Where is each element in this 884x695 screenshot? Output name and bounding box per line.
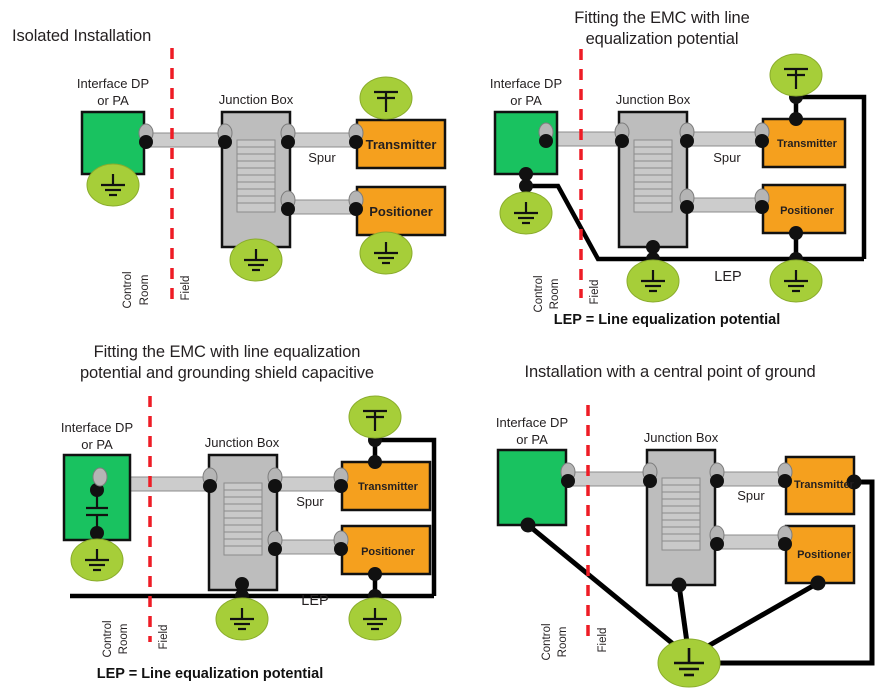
- junction-box-label: Junction Box: [616, 92, 691, 107]
- panel-title-4-line-1: Installation with a central point of gro…: [480, 362, 860, 383]
- wire-node: [672, 578, 687, 593]
- wire-node: [90, 526, 104, 540]
- positioner-label: Positioner: [369, 204, 433, 219]
- transmitter-clean-ground-icon: [770, 54, 822, 96]
- junction-box-label: Junction Box: [219, 92, 294, 107]
- shield-terminal-icon: [643, 463, 657, 488]
- interface-ground-icon: [71, 539, 123, 581]
- interface-label-line1: Interface DP: [496, 415, 568, 430]
- interface-label-line2: or PA: [81, 437, 113, 452]
- shield-terminal-icon: [203, 468, 217, 493]
- room-label: Room: [549, 279, 561, 310]
- positioner-label: Positioner: [797, 549, 852, 561]
- wire-node: [521, 518, 536, 533]
- diagram-root: Isolated Installation: [0, 0, 884, 692]
- field-label: Field: [597, 628, 609, 653]
- spur-label: Spur: [296, 494, 324, 509]
- panel-central-point-of-ground: Installation with a central point of gro…: [452, 350, 884, 692]
- shield-terminal-icon: [349, 124, 363, 149]
- shield-terminal-icon: [539, 123, 553, 148]
- schematic-1: Interface DP or PA Junction Box Spur Tra…: [0, 0, 452, 330]
- terminal-strip-icon: [224, 483, 262, 555]
- panel-footnote-2: LEP = Line equalization potential: [492, 312, 842, 328]
- wire-node: [519, 179, 533, 193]
- central-ground-icon: [658, 639, 720, 687]
- shield-terminal-icon: [561, 463, 575, 488]
- interface-label-line2: or PA: [97, 93, 129, 108]
- shield-terminal-icon: [710, 463, 724, 488]
- lep-label: LEP: [301, 593, 328, 609]
- positioner-label: Positioner: [780, 205, 835, 217]
- spur-cable-positioner: [684, 198, 766, 212]
- panel-isolated-installation: Isolated Installation: [0, 0, 452, 330]
- field-label: Field: [180, 276, 192, 301]
- junction-box-label: Junction Box: [644, 430, 719, 445]
- wire-node: [519, 167, 533, 181]
- field-label: Field: [158, 625, 170, 650]
- spur-label: Spur: [737, 488, 765, 503]
- wire-node: [811, 576, 826, 591]
- shield-terminal-icon: [281, 124, 295, 149]
- spur-cable-transmitter: [716, 472, 784, 486]
- positioner-ground-icon: [360, 232, 412, 274]
- shield-terminal-icon: [93, 468, 107, 486]
- shield-terminal-icon: [349, 191, 363, 216]
- wire-node: [235, 577, 249, 591]
- lep-label: LEP: [714, 269, 741, 285]
- panel-title-2: Fitting the EMC with line equalization p…: [512, 8, 812, 49]
- interface-label-line1: Interface DP: [61, 420, 133, 435]
- junction-box-ground-icon: [230, 239, 282, 281]
- interface-ground-icon: [87, 164, 139, 206]
- spur-cable-transmitter: [684, 132, 766, 146]
- panel-title-1-line-1: Isolated Installation: [12, 27, 151, 45]
- terminal-strip-icon: [237, 140, 275, 212]
- panel-title-3-line-2: potential and grounding shield capacitiv…: [22, 363, 432, 384]
- spur-label: Spur: [308, 150, 336, 165]
- shield-terminal-icon: [680, 123, 694, 148]
- transmitter-label: Transmitter: [366, 137, 437, 152]
- shield-terminal-icon: [755, 189, 769, 214]
- junction-box-ground-icon: [216, 598, 268, 640]
- interface-label-line1: Interface DP: [490, 76, 562, 91]
- panel-footnote-3: LEP = Line equalization potential: [30, 666, 390, 682]
- panel-title-2-line-1: Fitting the EMC with line: [512, 8, 812, 29]
- wire-node: [789, 112, 803, 126]
- shield-terminal-icon: [334, 468, 348, 493]
- junction-box-label: Junction Box: [205, 435, 280, 450]
- control-label: Control: [541, 623, 553, 660]
- panel-title-1: Isolated Installation: [12, 26, 302, 47]
- control-label: Control: [122, 271, 134, 308]
- wire-node: [368, 567, 382, 581]
- panel-title-3: Fitting the EMC with line equalization p…: [22, 342, 432, 383]
- shield-terminal-icon: [680, 189, 694, 214]
- interface-ground-icon: [500, 192, 552, 234]
- shield-terminal-icon: [778, 463, 792, 488]
- room-label: Room: [118, 624, 130, 655]
- transmitter-label: Transmitter: [777, 138, 838, 150]
- positioner-label: Positioner: [361, 546, 416, 558]
- shield-terminal-icon: [218, 124, 232, 149]
- room-label: Room: [139, 275, 151, 306]
- shield-terminal-icon: [139, 124, 153, 149]
- schematic-2: Interface DP or PA Junction Box Spur Tra…: [452, 55, 884, 355]
- control-label: Control: [102, 620, 114, 657]
- transmitter-clean-ground-icon: [360, 77, 412, 119]
- transmitter-clean-ground-icon: [349, 396, 401, 438]
- shield-terminal-icon: [755, 123, 769, 148]
- shield-terminal-icon: [268, 531, 282, 556]
- interface-label-line2: or PA: [516, 432, 548, 447]
- shield-terminal-icon: [334, 531, 348, 556]
- terminal-strip-icon: [634, 140, 672, 212]
- shield-terminal-icon: [710, 526, 724, 551]
- shield-terminal-icon: [615, 123, 629, 148]
- room-label: Room: [557, 627, 569, 658]
- wire-node: [646, 240, 660, 254]
- panel-title-2-line-2: equalization potential: [512, 29, 812, 50]
- control-label: Control: [533, 275, 545, 312]
- panel-title-4: Installation with a central point of gro…: [480, 362, 860, 383]
- panel-emc-lep-grounding-shield-capacitive: Fitting the EMC with line equalization p…: [0, 330, 452, 692]
- positioner-ground-icon: [349, 598, 401, 640]
- field-label: Field: [589, 280, 601, 305]
- interface-label-line1: Interface DP: [77, 76, 149, 91]
- schematic-3: Interface DP or PA Junction Box Spur Tra…: [0, 392, 452, 692]
- positioner-ground-icon: [770, 260, 822, 302]
- wire-node: [368, 455, 382, 469]
- shield-terminal-icon: [281, 191, 295, 216]
- panel-title-3-line-1: Fitting the EMC with line equalization: [22, 342, 432, 363]
- wire-node: [789, 226, 803, 240]
- trunk-cable-segment: [140, 133, 230, 147]
- interface-label-line2: or PA: [510, 93, 542, 108]
- spur-label: Spur: [713, 150, 741, 165]
- shield-terminal-icon: [778, 526, 792, 551]
- junction-box-ground-icon: [627, 260, 679, 302]
- transmitter-label: Transmitter: [794, 479, 855, 491]
- terminal-strip-icon: [662, 478, 700, 550]
- transmitter-label: Transmitter: [358, 481, 419, 493]
- schematic-4: Interface DP or PA Junction Box Spur Tra…: [452, 395, 884, 695]
- panel-emc-line-equalization-potential: Fitting the EMC with line equalization p…: [452, 0, 884, 340]
- interface-dp-pa-box: [498, 450, 566, 525]
- shield-terminal-icon: [268, 468, 282, 493]
- spur-cable-positioner: [716, 535, 784, 549]
